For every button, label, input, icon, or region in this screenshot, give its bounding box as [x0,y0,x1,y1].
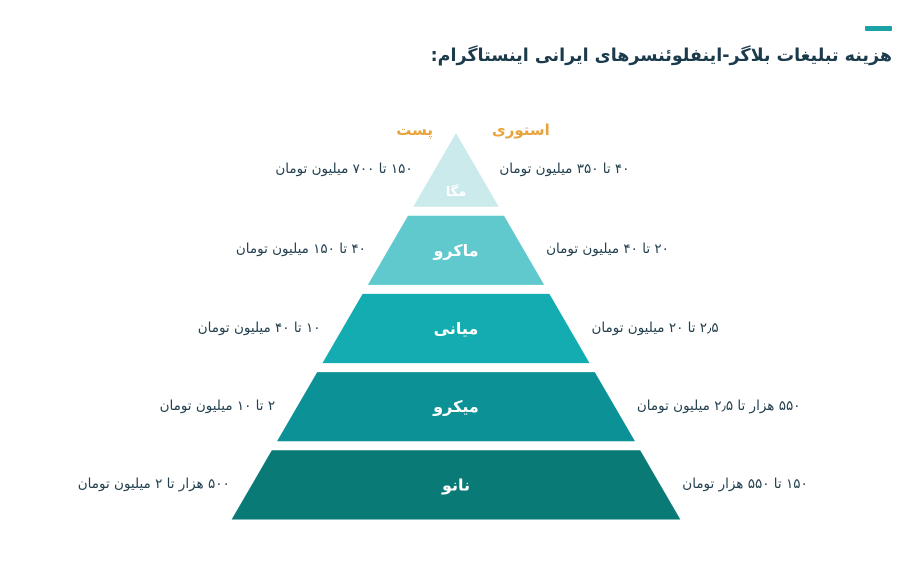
tier-name-label: میانی [434,319,479,338]
column-caption-post: پست [396,120,433,140]
tier-name-label: ماکرو [432,241,478,260]
pyramid-tier-5[interactable] [232,450,681,519]
post-value-tier-4: ۲ تا ۱۰ میلیون تومان [160,397,276,416]
story-value-tier-1: ۴۰ تا ۳۵۰ میلیون تومان [499,160,629,179]
pyramid-tier-2[interactable] [368,216,544,285]
post-value-tier-2: ۴۰ تا ۱۵۰ میلیون تومان [236,240,366,259]
page-header: هزینه تبلیغات بلاگر-اینفلوئنسرهای ایرانی… [0,0,913,90]
post-value-tier-5: ۵۰۰ هزار تا ۲ میلیون تومان [78,475,230,494]
tier-name-label: میکرو [432,397,479,416]
post-value-tier-3: ۱۰ تا ۴۰ میلیون تومان [198,319,321,338]
column-caption-story: استوری [492,120,550,140]
story-value-tier-5: ۱۵۰ تا ۵۵۰ هزار تومان [682,475,807,494]
story-value-tier-2: ۲۰ تا ۴۰ میلیون تومان [546,240,669,259]
story-value-tier-4: ۵۵۰ هزار تا ۲٫۵ میلیون تومان [637,397,801,416]
pyramid-tier-1[interactable] [413,133,499,207]
pyramid-tier-4[interactable] [277,372,635,441]
tier-name-label: مگا [446,184,467,200]
accent-rule [865,26,892,31]
page-title: هزینه تبلیغات بلاگر-اینفلوئنسرهای ایرانی… [431,44,892,68]
tier-name-label: نانو [441,475,470,494]
pyramid-tier-3[interactable] [322,294,589,363]
story-value-tier-3: ۲٫۵ تا ۲۰ میلیون تومان [592,319,719,338]
post-value-tier-1: ۱۵۰ تا ۷۰۰ میلیون تومان [275,160,412,179]
